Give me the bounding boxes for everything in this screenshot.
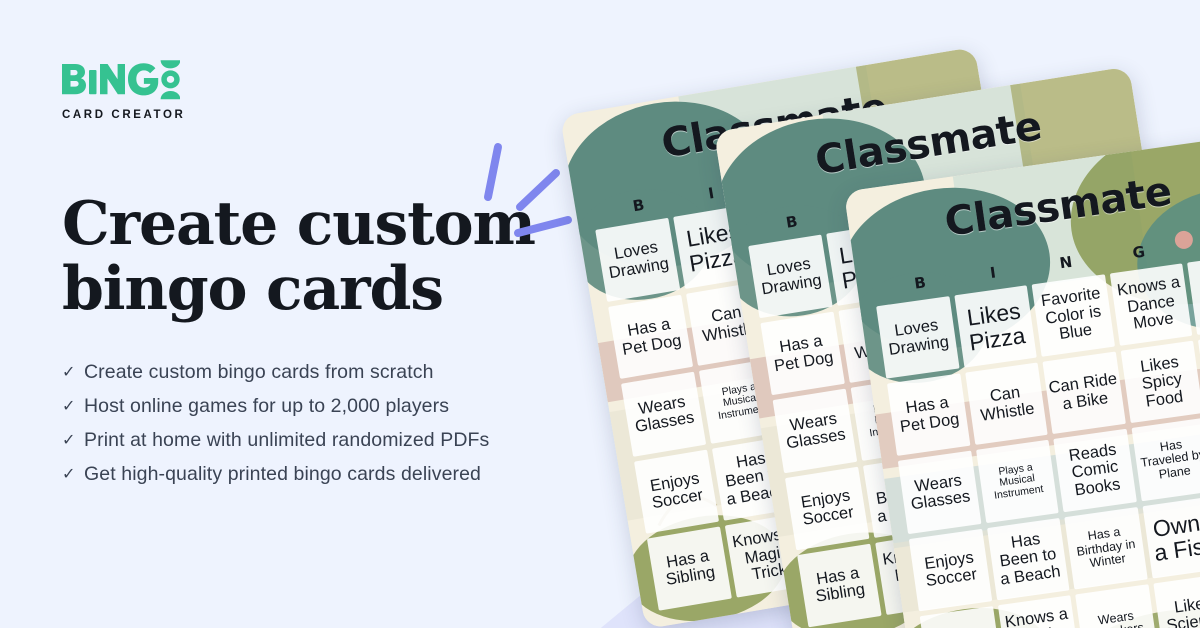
bingo-cell[interactable]: Enjoys Soccer (634, 449, 719, 533)
bingo-cell[interactable]: Enjoys Soccer (785, 466, 869, 550)
bingo-cell[interactable]: Has a Pet Dog (760, 312, 844, 396)
bingo-cell[interactable]: Knows a Magic Trick (997, 595, 1080, 628)
bingo-cell[interactable]: Likes Pizza (954, 285, 1037, 368)
bingo-cell[interactable]: Plays a Musical Instrument (976, 440, 1059, 523)
bingo-cell[interactable]: Can Whistle (965, 363, 1048, 446)
bingo-card-stack: Classmate B I N G O Loves DrawingLikes P… (0, 0, 1200, 628)
bingo-cell[interactable]: Has a Birthday in Winter (1064, 507, 1147, 590)
bingo-grid: Loves DrawingLikes PizzaFavorite Color i… (876, 252, 1200, 628)
bingo-card-front[interactable]: Classmate B I N G O Loves DrawingLikes P… (844, 133, 1200, 628)
bingo-cell[interactable]: Wears Glasses (773, 389, 857, 473)
banner-stage: CARD CREATOR Create custom bingo cards ✓… (0, 0, 1200, 628)
bingo-cell[interactable]: Favorite Color is Blue (1032, 274, 1115, 357)
bingo-cell[interactable]: Has Been to a Beach (987, 518, 1070, 601)
bingo-cell[interactable]: Has Traveled by Plane (1131, 418, 1200, 501)
bingo-cell[interactable]: Likes Science (1153, 573, 1200, 628)
bingo-cell[interactable]: Reads Comic Books (1054, 429, 1137, 512)
bingo-cell[interactable]: Likes Spicy Food (1121, 341, 1200, 424)
bingo-cell[interactable]: Has a Pet Dog (887, 374, 970, 457)
bingo-cell[interactable]: Wears Glasses (898, 451, 981, 534)
bingo-cell[interactable]: Loves Drawing (876, 296, 959, 379)
bingo-cell[interactable]: Has a Pet Dog (608, 295, 693, 379)
bingo-cell[interactable]: Knows a Dance Move (1110, 263, 1193, 346)
bingo-cell[interactable]: Has a Sibling (647, 526, 732, 610)
bingo-cell[interactable]: Has a Sibling (797, 544, 881, 628)
bingo-cell[interactable]: Loves Drawing (748, 235, 832, 319)
bingo-cell[interactable]: Wears Sneakers (1075, 584, 1158, 628)
bingo-cell[interactable]: Can Ride a Bike (1043, 352, 1126, 435)
bingo-cell[interactable]: Owns a Fish (1142, 496, 1200, 579)
bingo-cell[interactable]: Loves Drawing (595, 218, 680, 302)
bingo-cell[interactable]: Wears Glasses (621, 372, 706, 456)
bingo-cell[interactable]: Enjoys Soccer (909, 528, 992, 611)
